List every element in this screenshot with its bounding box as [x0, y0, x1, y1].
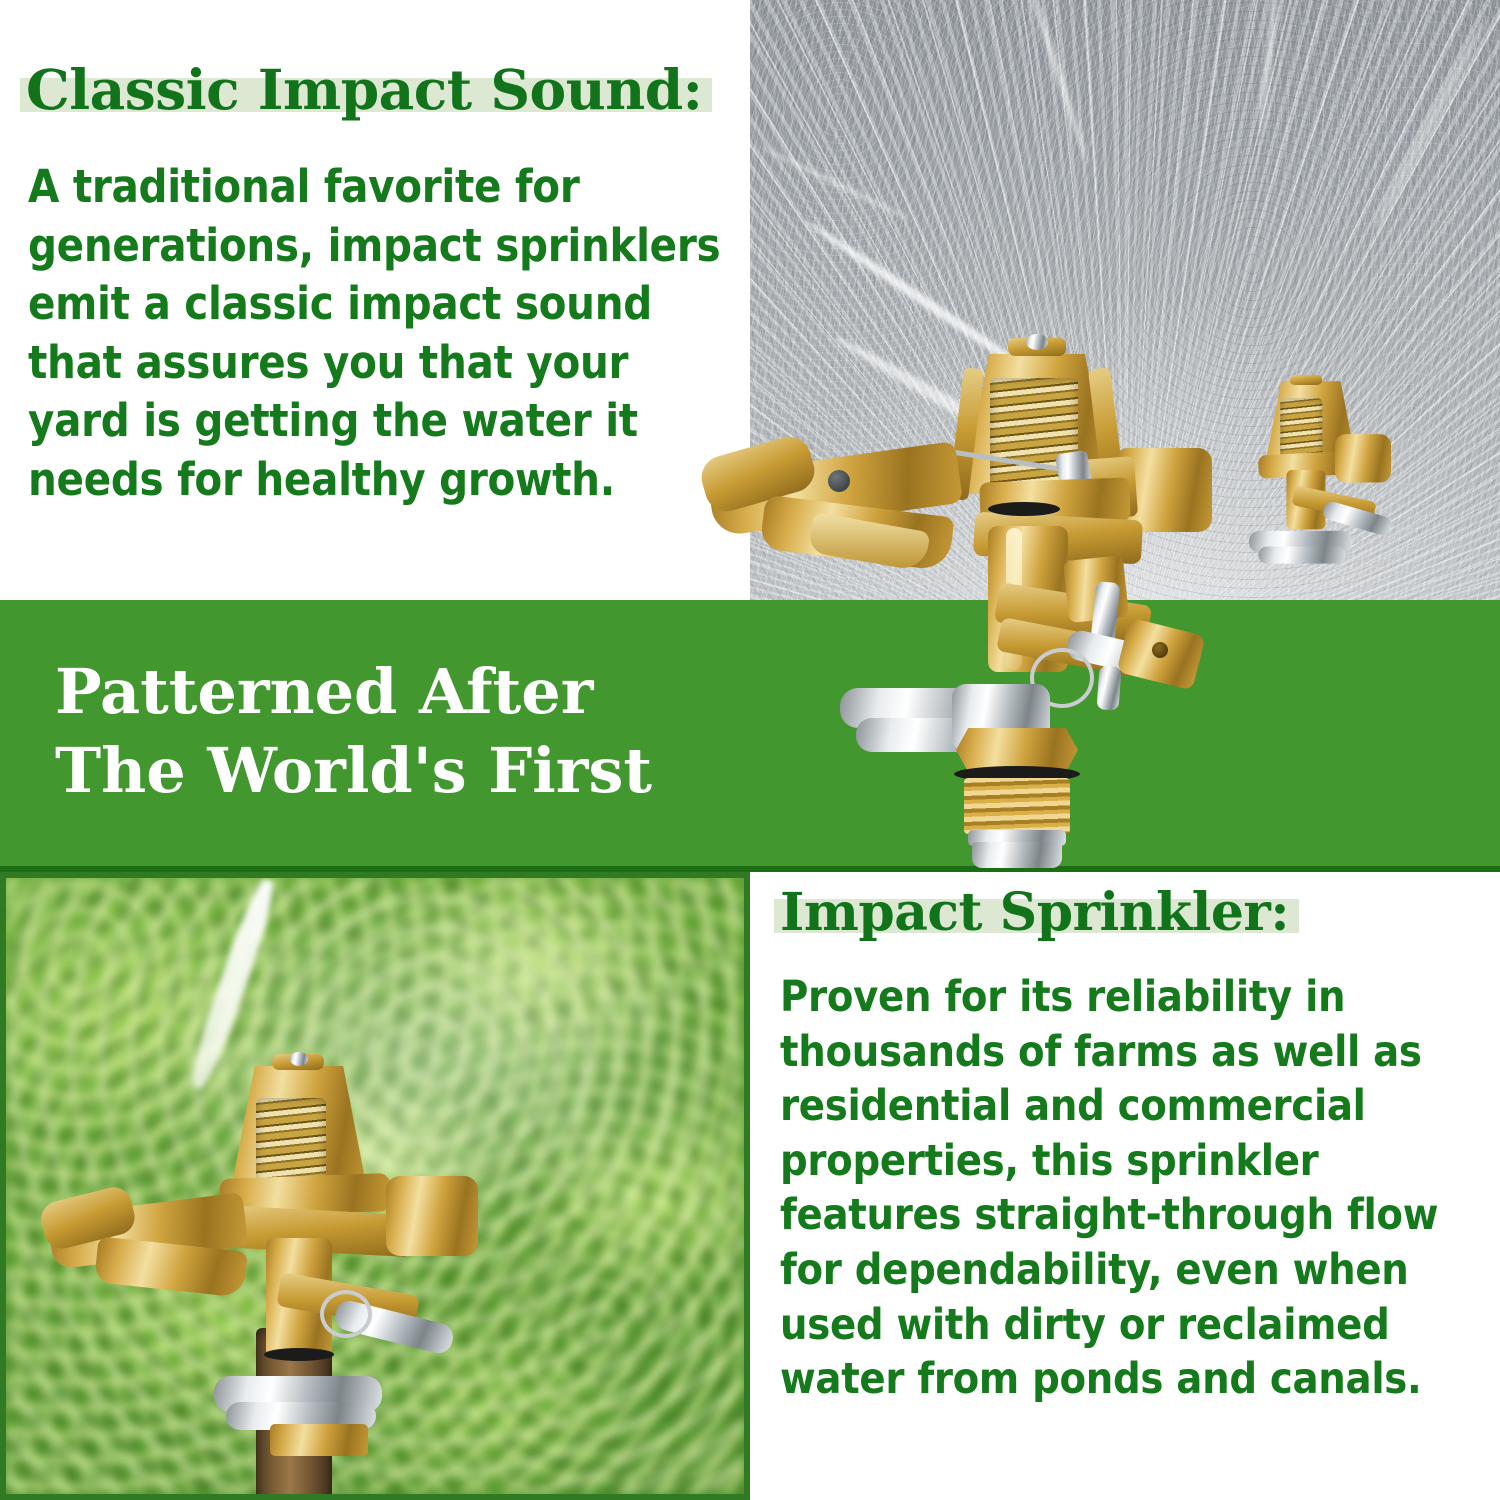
threaded-inlet	[964, 778, 1070, 834]
cap-bolt	[1026, 334, 1048, 350]
banner-heading: Patterned After The World's First	[55, 652, 955, 811]
banner-heading-line-1: Patterned After	[55, 652, 955, 731]
classic-impact-sound-panel: Classic Impact Sound: A traditional favo…	[0, 0, 750, 600]
classic-impact-sound-body: A traditional favorite for generations, …	[28, 158, 728, 509]
banner-heading-line-2: The World's First	[55, 731, 955, 810]
heading-text: Impact Sprinkler:	[780, 882, 1289, 943]
infographic-root: Classic Impact Sound: A traditional favo…	[0, 0, 1500, 1500]
garden-sprinkler-head	[34, 1058, 454, 1478]
upper-o-ring	[988, 502, 1060, 516]
arm-pivot-bolt	[828, 470, 850, 492]
foliage-background	[6, 878, 744, 1494]
secondary-sprinkler-render	[1235, 378, 1368, 557]
stop-pin	[1096, 665, 1121, 710]
heading-text: Classic Impact Sound:	[26, 57, 702, 122]
classic-impact-sound-heading: Classic Impact Sound:	[26, 62, 702, 118]
impact-sprinkler-panel: Impact Sprinkler: Proven for its reliabi…	[750, 872, 1500, 1500]
sprinkler-in-garden-photo	[0, 872, 750, 1500]
adjust-screw	[1152, 642, 1168, 658]
brass-impact-sprinkler-render	[830, 330, 1250, 870]
impact-sprinkler-heading: Impact Sprinkler:	[780, 886, 1289, 939]
chrome-base-cap	[972, 842, 1062, 868]
impact-sprinkler-body: Proven for its reliability in thousands …	[780, 970, 1486, 1407]
